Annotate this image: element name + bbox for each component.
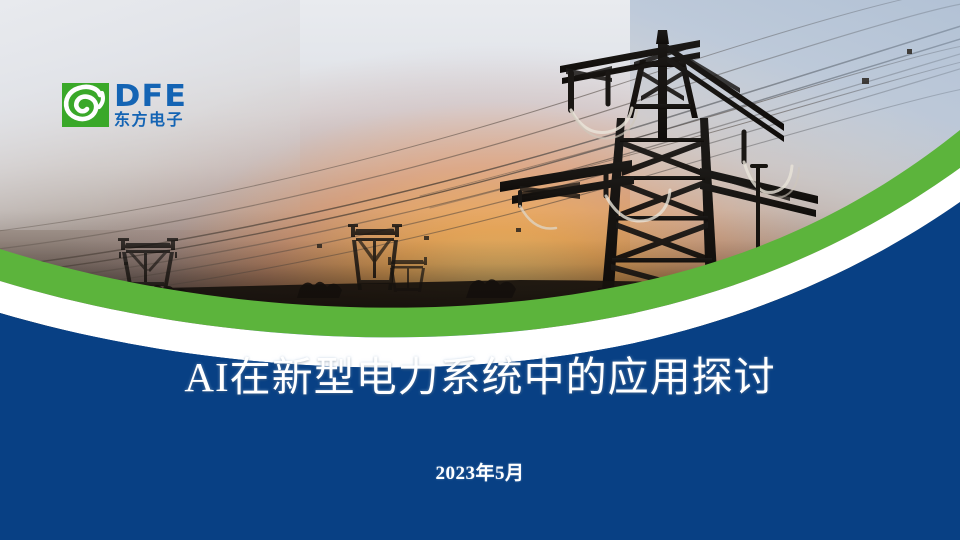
dfe-swirl-mark-icon: [62, 83, 109, 127]
logo-wordmark: DFE 东方电子: [114, 83, 184, 128]
slide-date: 2023年5月: [0, 402, 960, 485]
dfe-logo: DFE 东方电子: [62, 83, 184, 128]
hero-photo: [0, 0, 960, 330]
page-title: AI在新型电力系统中的应用探讨: [0, 352, 960, 402]
logo-latin-text: DFE: [114, 84, 187, 109]
title-block: AI在新型电力系统中的应用探讨 2023年5月: [0, 352, 960, 485]
ground-shadow: [0, 240, 960, 330]
title-slide: DFE 东方电子 AI在新型电力系统中的应用探讨 2023年5月: [0, 0, 960, 540]
wire-spacers: [124, 49, 912, 265]
